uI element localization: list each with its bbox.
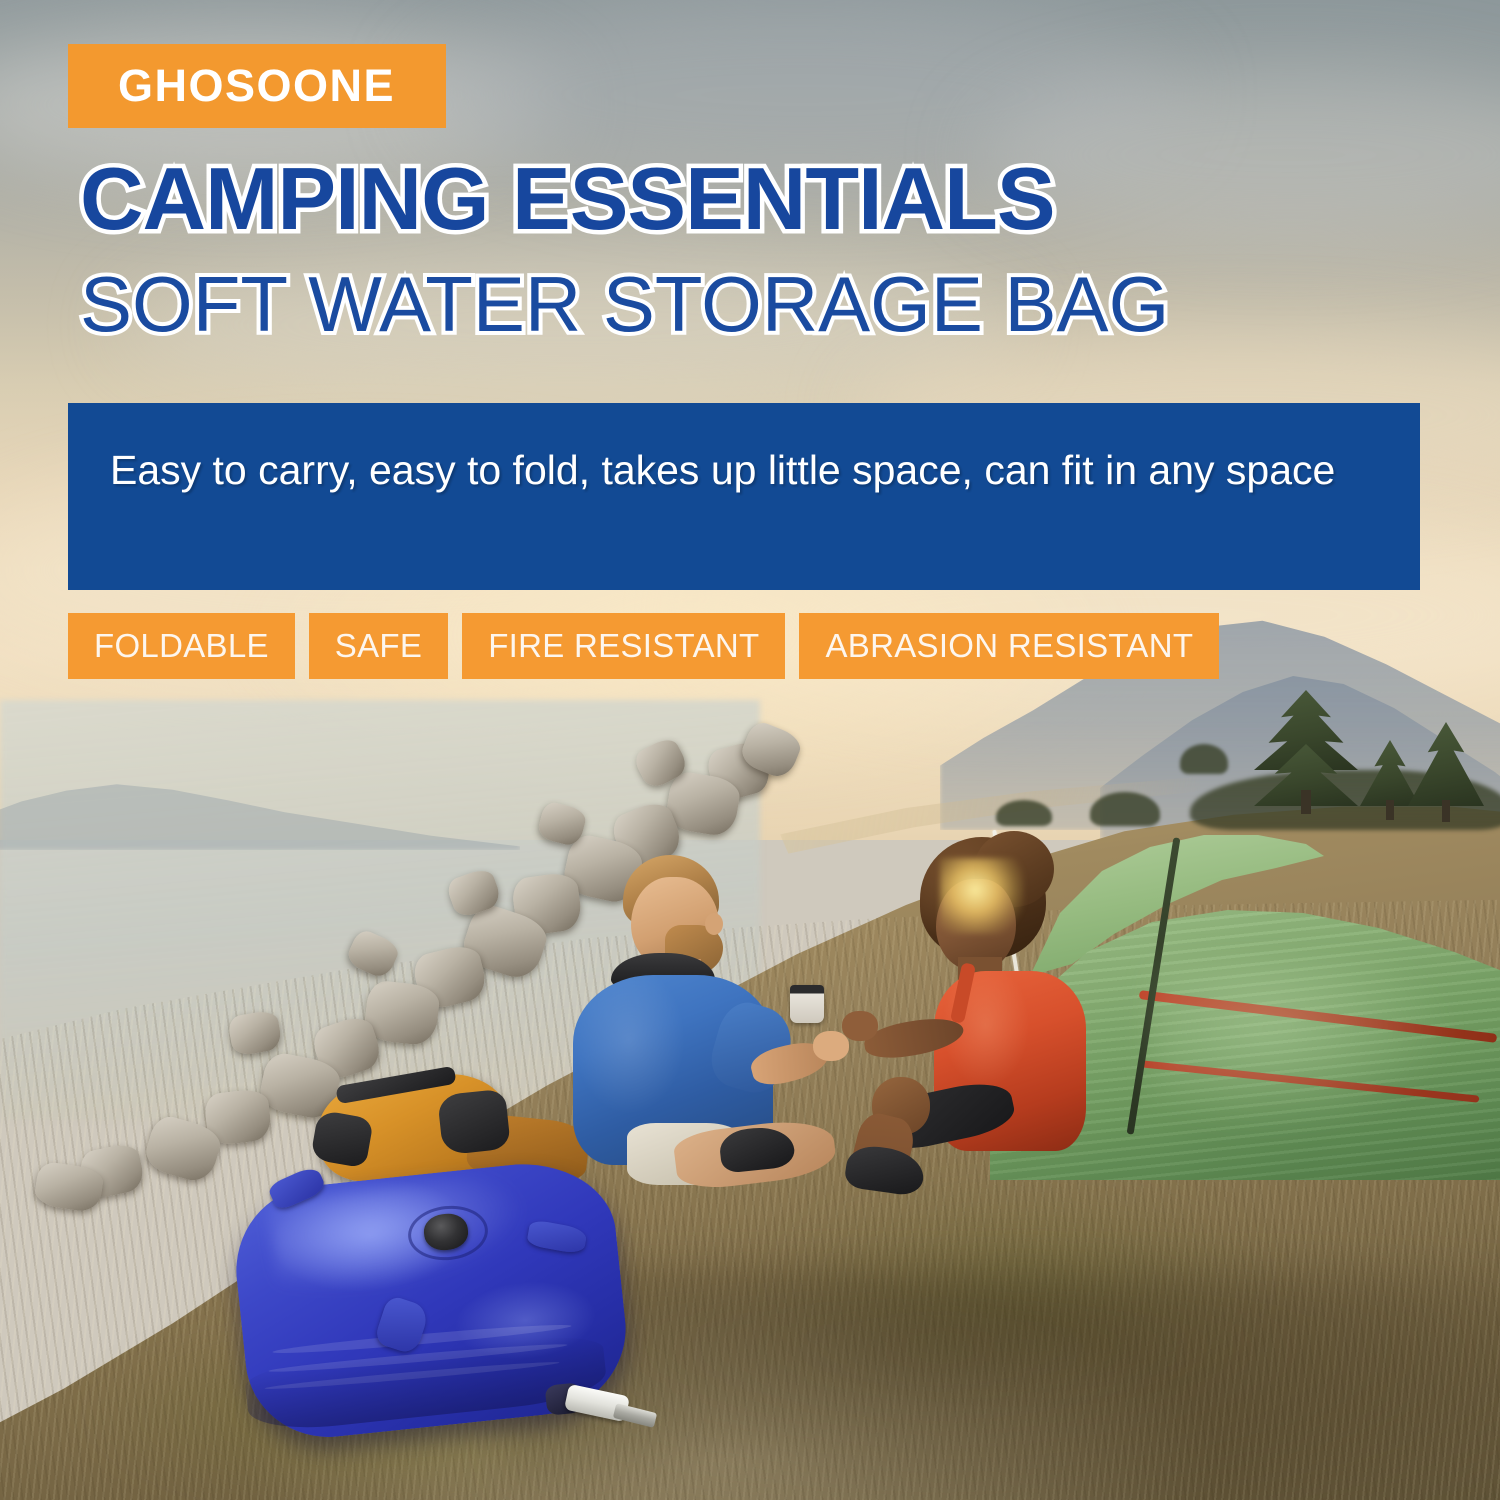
- marketing-overlay: GHOSOONE CAMPING ESSENTIALS SOFT WATER S…: [0, 0, 1500, 1500]
- brand-badge: GHOSOONE: [68, 44, 446, 128]
- feature-tag: FOLDABLE: [68, 613, 295, 679]
- feature-tag: SAFE: [309, 613, 448, 679]
- description-box: Easy to carry, easy to fold, takes up li…: [68, 403, 1420, 590]
- feature-tag-row: FOLDABLESAFEFIRE RESISTANTABRASION RESIS…: [68, 613, 1219, 679]
- description-text: Easy to carry, easy to fold, takes up li…: [110, 441, 1378, 499]
- feature-tag-label: SAFE: [335, 627, 422, 665]
- feature-tag: FIRE RESISTANT: [462, 613, 785, 679]
- feature-tag: ABRASION RESISTANT: [799, 613, 1219, 679]
- page-title: CAMPING ESSENTIALS: [80, 155, 1055, 243]
- brand-name: GHOSOONE: [68, 60, 395, 112]
- product-subtitle: SOFT WATER STORAGE BAG: [80, 265, 1169, 343]
- feature-tag-label: FIRE RESISTANT: [488, 627, 759, 665]
- feature-tag-label: ABRASION RESISTANT: [825, 627, 1193, 665]
- feature-tag-label: FOLDABLE: [94, 627, 269, 665]
